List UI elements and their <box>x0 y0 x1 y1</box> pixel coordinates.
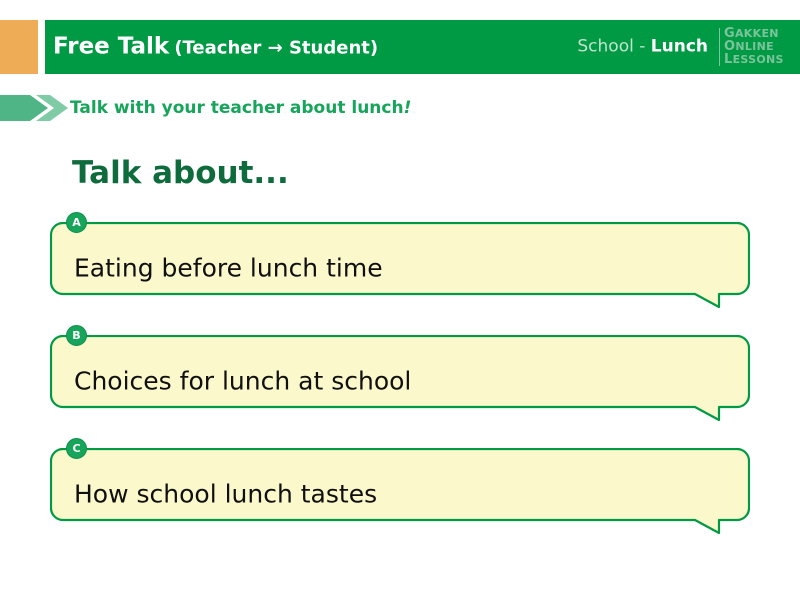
section-heading: Talk about... <box>72 155 289 191</box>
brand-logo-line-3: LESSONS <box>724 53 796 66</box>
brand-logo: GAKKEN ONLINE LESSONS <box>724 27 796 66</box>
double-chevron-right-icon <box>0 90 75 126</box>
topic-bubble: A Eating before lunch time <box>50 222 750 314</box>
topic-text: Eating before lunch time <box>74 254 383 283</box>
brand-logo-line-2: ONLINE <box>724 40 796 53</box>
page-title-sub: (Teacher → Student) <box>174 38 378 59</box>
logo-divider <box>719 28 720 66</box>
topic-badge: B <box>66 325 87 346</box>
topic-text: How school lunch tastes <box>74 480 377 509</box>
breadcrumb-topic: Lunch <box>651 37 708 57</box>
breadcrumb-category: School - <box>577 37 650 57</box>
topic-badge: C <box>66 438 87 459</box>
page-title-main: Free Talk <box>53 34 169 60</box>
header-accent-block <box>0 20 38 74</box>
topic-badge: A <box>66 212 87 233</box>
instruction-text: Talk with your teacher about lunch! <box>70 98 411 118</box>
topic-bubble: C How school lunch tastes <box>50 448 750 540</box>
slide-header: Free Talk (Teacher → Student) School - L… <box>0 20 800 74</box>
topic-bubble: B Choices for lunch at school <box>50 335 750 427</box>
page-title: Free Talk (Teacher → Student) <box>53 36 378 59</box>
instruction-text-body: Talk with your teacher about lunch <box>70 98 404 118</box>
instruction-text-punctuation: ! <box>404 98 412 118</box>
instruction-row: Talk with your teacher about lunch! <box>0 90 800 126</box>
breadcrumb: School - Lunch <box>577 39 708 56</box>
topic-text: Choices for lunch at school <box>74 367 411 396</box>
